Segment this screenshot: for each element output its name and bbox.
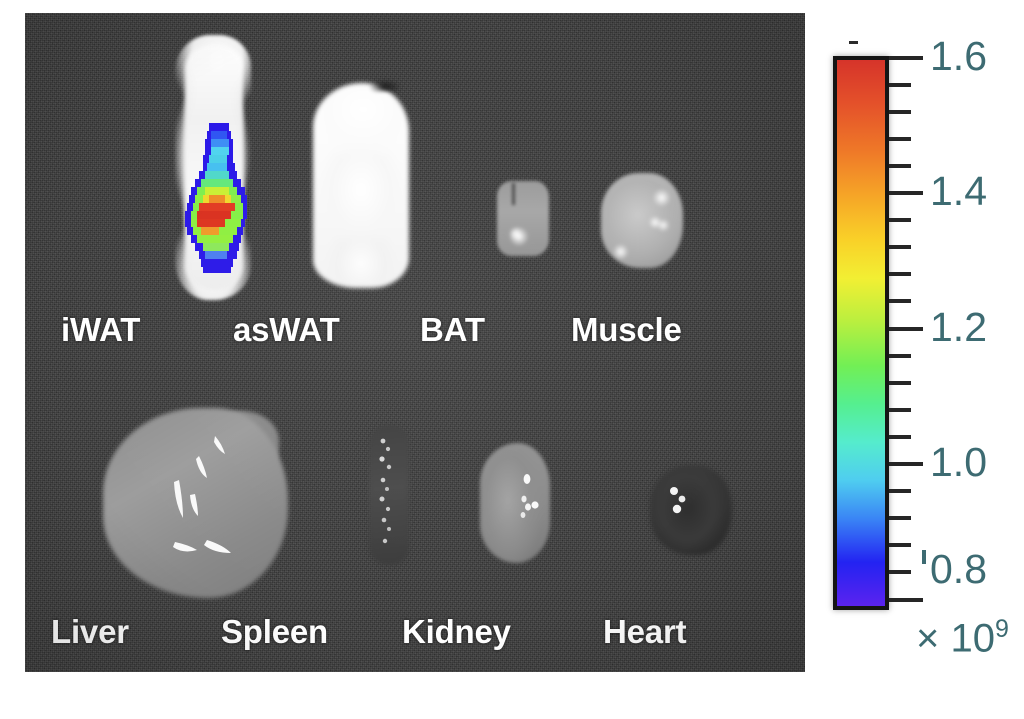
specimen-aswat	[313, 83, 409, 288]
kidney-specular-highlights	[480, 443, 550, 563]
specimen-label-kidney: Kidney	[402, 613, 511, 651]
colorbar-major-tick-1-4	[889, 191, 923, 195]
specimen-label-aswat: asWAT	[233, 311, 340, 349]
colorbar-minor-tick	[889, 299, 911, 303]
colorbar-minor-tick	[889, 272, 911, 276]
specimen-label-muscle: Muscle	[571, 311, 682, 349]
heart-specular-highlights	[650, 465, 732, 555]
colorbar-minor-tick	[889, 408, 911, 412]
iwat-bioluminescence-overlay	[173, 123, 261, 273]
colorbar-minor-tick	[889, 381, 911, 385]
colorbar-multiplier: × 109	[916, 617, 1009, 658]
spleen-specular-highlights	[369, 425, 409, 565]
colorbar-minor-tick	[889, 137, 911, 141]
colorbar-minor-tick	[889, 245, 911, 249]
specimen-iwat	[157, 35, 277, 300]
colorbar-label-1-2: 1.2	[930, 307, 987, 348]
colorbar-minor-tick	[889, 110, 911, 114]
colorbar-label-1-6: 1.6	[930, 36, 987, 77]
colorbar-minor-tick	[889, 83, 911, 87]
specimen-liver	[103, 408, 288, 598]
colorbar-gradient	[833, 56, 889, 610]
specimen-bat	[497, 181, 549, 256]
radiance-colorbar: 1.6 1.4 1.2 1.0 0.8 × 109	[826, 0, 1024, 719]
specimen-muscle	[601, 173, 683, 268]
specimen-label-bat: BAT	[420, 311, 485, 349]
colorbar-multiplier-exponent: 9	[995, 615, 1009, 643]
colorbar-top-stub-tick	[849, 41, 858, 44]
colorbar-minor-tick	[889, 164, 911, 168]
colorbar-minor-tick	[889, 435, 911, 439]
aswat-notch-shadow	[369, 79, 401, 92]
colorbar-multiplier-base: × 10	[916, 616, 995, 660]
colorbar-label-1-4: 1.4	[930, 171, 987, 212]
colorbar-minor-tick	[889, 218, 911, 222]
colorbar-label-1-0: 1.0	[930, 442, 987, 483]
bioluminescence-image-panel: iWAT asWAT BAT Muscle	[25, 13, 805, 672]
specimen-label-iwat: iWAT	[61, 311, 140, 349]
colorbar-major-tick-1-6	[889, 56, 923, 60]
bat-seam-shadow	[512, 183, 515, 205]
specimen-label-heart: Heart	[603, 613, 686, 651]
specimen-label-spleen: Spleen	[221, 613, 328, 651]
colorbar-minor-tick	[889, 489, 911, 493]
colorbar-minor-tick	[889, 570, 911, 574]
colorbar-major-tick-1-2	[889, 327, 923, 331]
colorbar-minor-tick	[889, 516, 911, 520]
colorbar-minor-tick	[889, 354, 911, 358]
colorbar-label-marker-dot	[922, 550, 926, 564]
colorbar-label-0-8: 0.8	[930, 549, 987, 590]
colorbar-major-tick-1-0	[889, 462, 923, 466]
specimen-label-liver: Liver	[51, 613, 129, 651]
colorbar-major-tick-0-8	[889, 598, 923, 602]
colorbar-minor-tick	[889, 543, 911, 547]
